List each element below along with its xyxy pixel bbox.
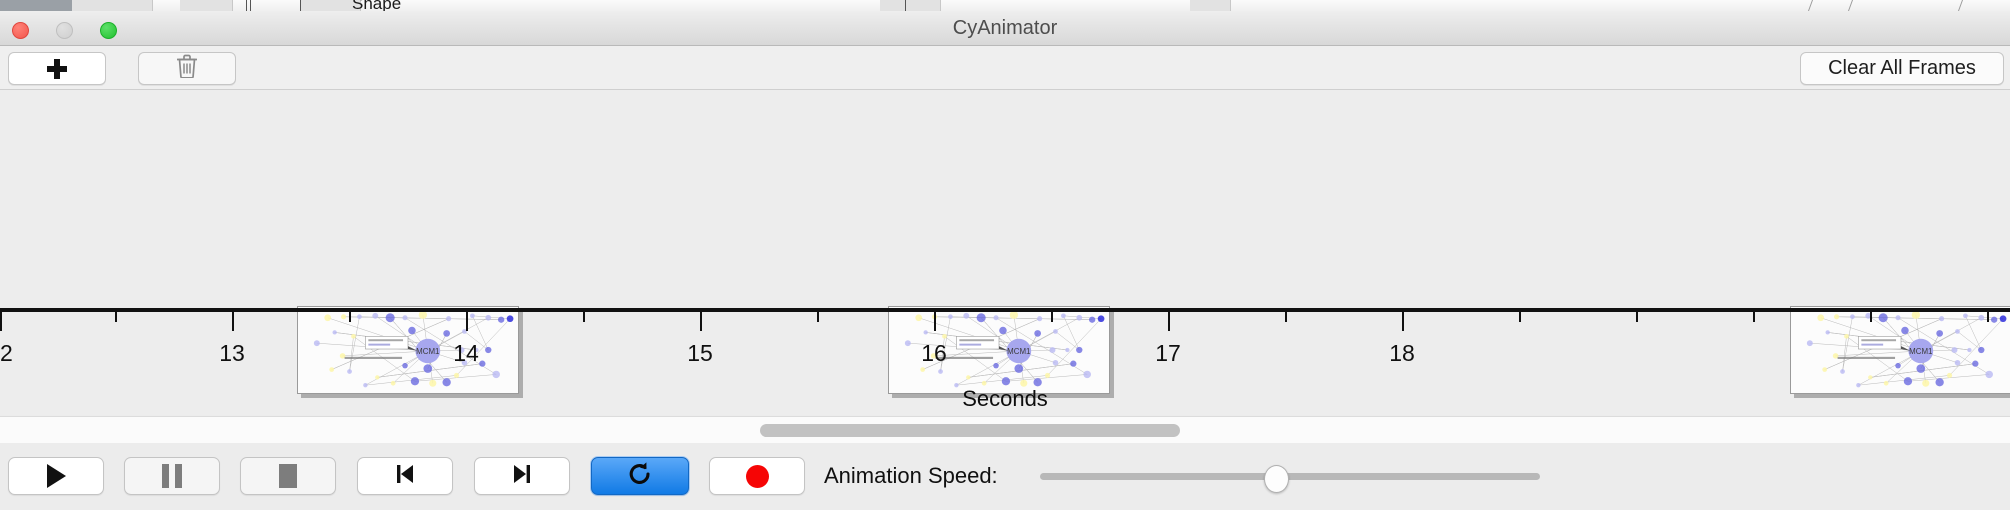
stop-icon bbox=[279, 464, 297, 488]
background-tick-icon bbox=[300, 0, 301, 11]
axis-tick-minor bbox=[1285, 312, 1287, 322]
record-icon bbox=[746, 465, 769, 488]
animation-speed-slider-knob[interactable] bbox=[1264, 465, 1289, 493]
window-title: CyAnimator bbox=[0, 11, 2010, 45]
add-frame-button[interactable] bbox=[8, 52, 106, 85]
axis-tick-major bbox=[934, 312, 936, 331]
axis-tick-major bbox=[232, 312, 234, 331]
background-tick-icon bbox=[250, 0, 251, 11]
loop-icon bbox=[626, 460, 654, 493]
cyanimator-window: Shape CyAnimator Clear All Frames bbox=[0, 0, 2010, 510]
timeline-scrollbar-thumb[interactable] bbox=[760, 424, 1180, 437]
axis-tick-label: 14 bbox=[453, 340, 479, 367]
skip-to-start-icon bbox=[392, 461, 418, 492]
skip-to-start-button[interactable] bbox=[357, 457, 453, 495]
pause-icon bbox=[162, 464, 182, 488]
timeline-scrollbar[interactable] bbox=[0, 416, 2010, 444]
trash-icon bbox=[176, 54, 198, 83]
background-slash-icon bbox=[1808, 0, 1813, 11]
axis-tick-minor bbox=[115, 312, 117, 322]
skip-to-end-button[interactable] bbox=[474, 457, 570, 495]
background-segment bbox=[72, 0, 153, 11]
svg-text:MCM1: MCM1 bbox=[416, 347, 439, 356]
axis-title: Seconds bbox=[0, 386, 2010, 412]
animation-speed-slider[interactable] bbox=[1040, 473, 1540, 480]
frame-thumbnail-1[interactable]: MCM1 bbox=[297, 306, 519, 394]
background-tick-icon bbox=[246, 0, 247, 11]
background-slash-icon bbox=[1958, 0, 1963, 11]
axis-tick-minor bbox=[1519, 312, 1521, 322]
skip-to-end-icon bbox=[509, 461, 535, 492]
loop-button[interactable] bbox=[591, 457, 689, 495]
axis-tick-minor bbox=[1753, 312, 1755, 322]
svg-text:MCM1: MCM1 bbox=[1909, 347, 1932, 356]
axis-tick-label: 18 bbox=[1389, 340, 1415, 367]
axis-tick-minor bbox=[1987, 312, 1989, 322]
playback-control-bar: Animation Speed: bbox=[0, 443, 2010, 510]
pause-button[interactable] bbox=[124, 457, 220, 495]
axis-tick-minor bbox=[817, 312, 819, 322]
axis-tick-label: 12 bbox=[0, 340, 13, 367]
axis-tick-label: 13 bbox=[219, 340, 245, 367]
axis-tick-major bbox=[700, 312, 702, 331]
axis-tick-label: 17 bbox=[1155, 340, 1181, 367]
background-tick-icon bbox=[905, 0, 906, 11]
axis-tick-major bbox=[466, 312, 468, 331]
play-button[interactable] bbox=[8, 457, 104, 495]
svg-text:MCM1: MCM1 bbox=[1007, 347, 1030, 356]
axis-tick-minor bbox=[1870, 312, 1872, 322]
background-slash-icon bbox=[1848, 0, 1853, 11]
record-button[interactable] bbox=[709, 457, 805, 495]
axis-tick-minor bbox=[349, 312, 351, 322]
axis-tick-minor bbox=[1051, 312, 1053, 322]
axis-tick-minor bbox=[1636, 312, 1638, 322]
frame-thumbnail-3[interactable]: MCM1 bbox=[1790, 306, 2010, 394]
axis-tick-major bbox=[1168, 312, 1170, 331]
background-segment bbox=[180, 0, 233, 11]
axis-tick-major bbox=[1402, 312, 1404, 331]
background-titlebar-segment bbox=[0, 0, 72, 11]
delete-frame-button[interactable] bbox=[138, 52, 236, 85]
stop-button[interactable] bbox=[240, 457, 336, 495]
frame-toolbar: Clear All Frames bbox=[0, 46, 2010, 90]
axis-tick-label: 16 bbox=[921, 340, 947, 367]
clear-all-frames-label: Clear All Frames bbox=[1828, 57, 1976, 80]
background-segment bbox=[880, 0, 941, 11]
axis-tick-minor bbox=[583, 312, 585, 322]
clear-all-frames-button[interactable]: Clear All Frames bbox=[1800, 52, 2004, 85]
window-titlebar: CyAnimator bbox=[0, 11, 2010, 46]
axis-tick-label: 15 bbox=[687, 340, 713, 367]
axis-tick-major bbox=[0, 312, 2, 331]
play-icon bbox=[47, 464, 66, 488]
animation-speed-label: Animation Speed: bbox=[824, 457, 998, 495]
timeline-panel[interactable]: MCM1MCM1MCM1 12131415161718Seconds bbox=[0, 90, 2010, 415]
plus-icon bbox=[47, 59, 67, 79]
background-segment bbox=[1190, 0, 1231, 11]
